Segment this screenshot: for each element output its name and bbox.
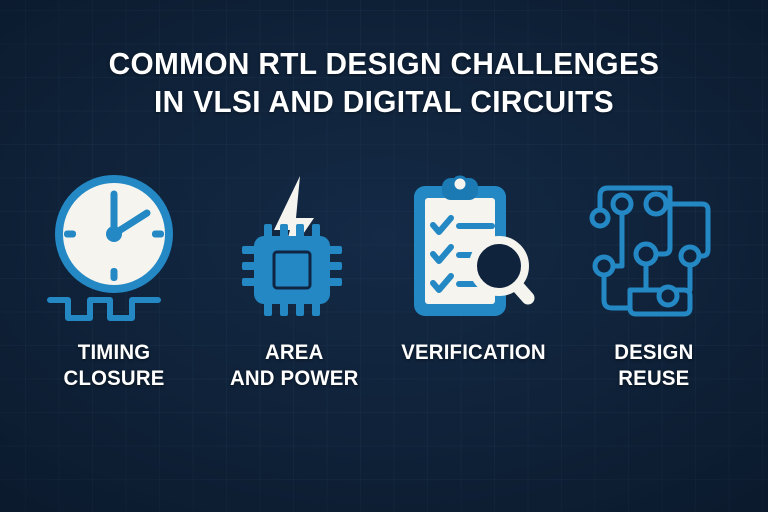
clock-waveform-svg xyxy=(44,172,184,324)
card-label: TIMING CLOSURE xyxy=(64,340,165,392)
title-line-2: IN VLSI AND DIGITAL CIRCUITS xyxy=(15,83,752,121)
challenge-card-timing-closure: TIMING CLOSURE xyxy=(32,172,196,392)
circuit-trace-nodes-icon xyxy=(578,172,730,324)
card-label: DESIGN REUSE xyxy=(614,340,693,392)
challenge-card-verification: VERIFICATION xyxy=(392,172,556,392)
infographic-canvas: COMMON RTL DESIGN CHALLENGES IN VLSI AND… xyxy=(0,0,768,512)
clipboard-magnifier-svg xyxy=(404,172,544,324)
chip-lightning-svg xyxy=(234,172,354,324)
challenge-card-area-and-power: AREA AND POWER xyxy=(212,172,376,392)
title-line-1: COMMON RTL DESIGN CHALLENGES xyxy=(15,45,752,83)
challenge-card-design-reuse: DESIGN REUSE xyxy=(572,172,736,392)
card-label: AREA AND POWER xyxy=(230,340,358,392)
chip-lightning-icon xyxy=(218,172,370,324)
clipboard-checklist-magnifier-icon xyxy=(398,172,550,324)
clock-waveform-icon xyxy=(38,172,190,324)
challenge-card-row: TIMING CLOSURE xyxy=(0,172,768,392)
page-title: COMMON RTL DESIGN CHALLENGES IN VLSI AND… xyxy=(0,45,768,121)
circuit-trace-svg xyxy=(584,172,724,324)
card-label: VERIFICATION xyxy=(402,340,547,366)
